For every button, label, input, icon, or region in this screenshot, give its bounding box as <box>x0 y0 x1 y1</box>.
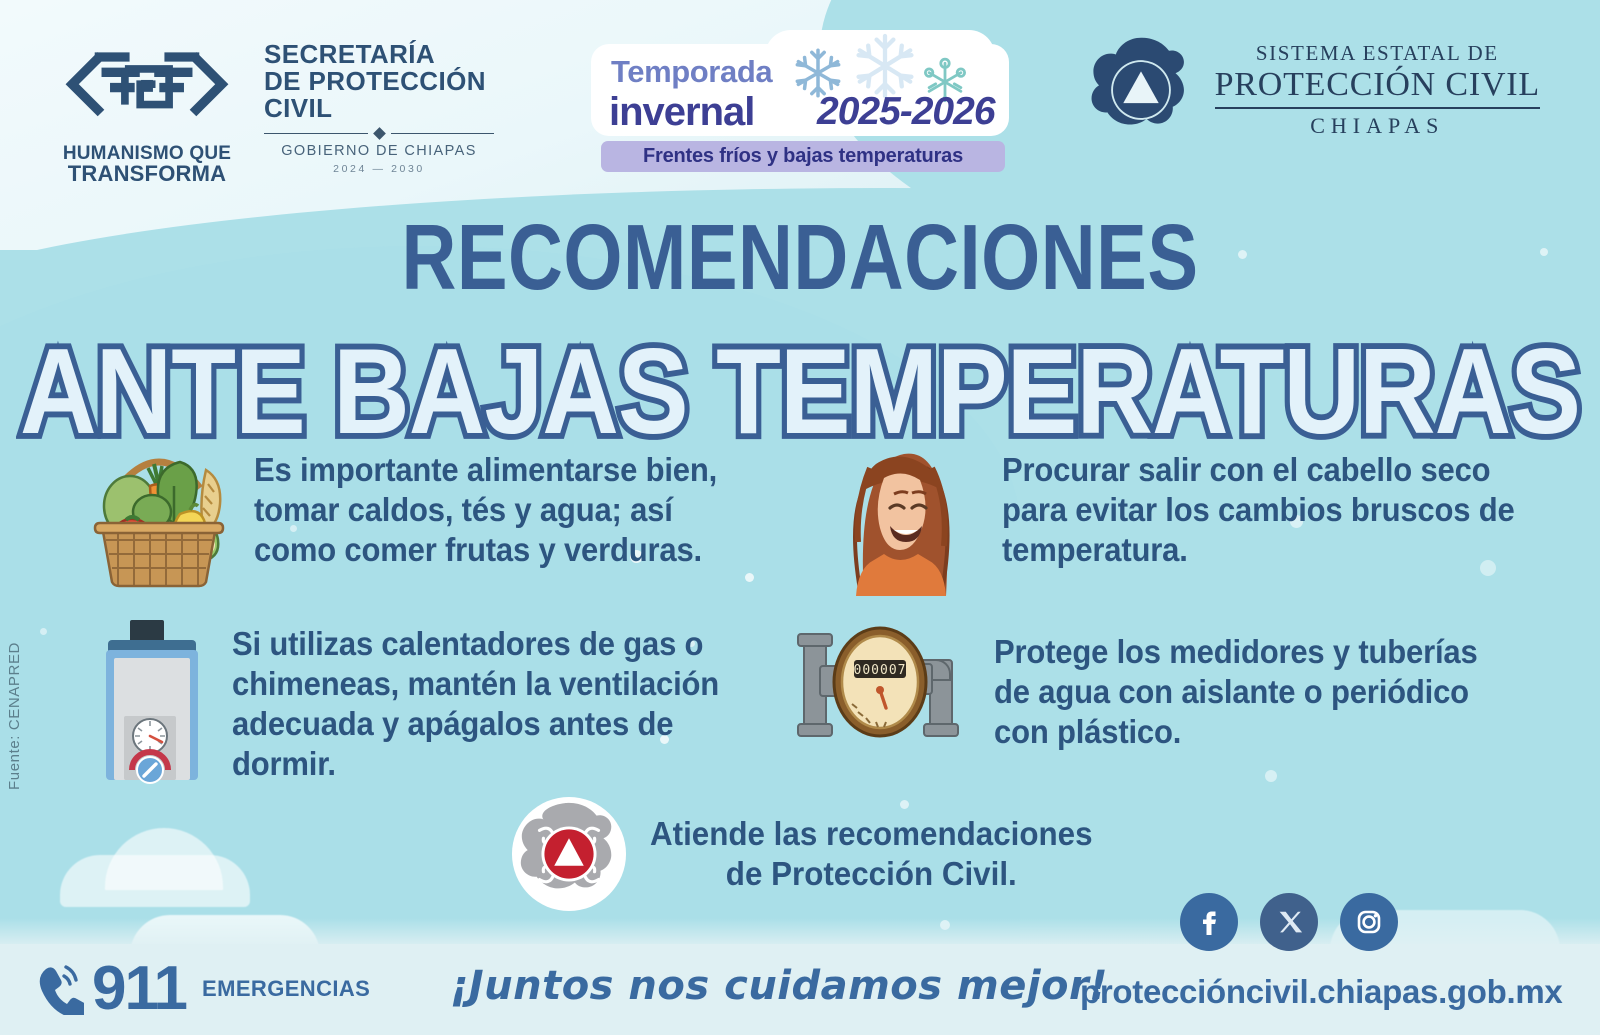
cta-text: Atiende las recomendaciones de Protecció… <box>650 814 1093 894</box>
emergency-block[interactable]: 911 EMERGENCIAS <box>34 961 370 1017</box>
food-basket-icon <box>88 428 230 593</box>
snow-dot <box>1265 770 1277 782</box>
proteccion-civil-seal-icon <box>1085 34 1197 146</box>
cta-block: Atiende las recomendaciones de Protecció… <box>510 795 1116 913</box>
logo-sistema-estatal-proteccion-civil: SISTEMA ESTATAL DE PROTECCIÓN CIVIL CHIA… <box>1085 34 1540 146</box>
header: HUMANISMO QUE TRANSFORMA SECRETARÍA DE P… <box>0 0 1600 190</box>
tip-text-hair: Procurar salir con el cabello seco para … <box>1002 450 1527 570</box>
tip-card-meter: 000007 Protege los medidores y tuberías … <box>790 620 1550 755</box>
title-line-1: RECOMENDACIONES <box>0 205 1600 311</box>
emergency-label: EMERGENCIAS <box>202 976 370 1002</box>
woman-wet-hair-icon <box>820 420 980 605</box>
logo-humanismo-que-transforma: HUMANISMO QUE TRANSFORMA SECRETARÍA DE P… <box>62 30 494 186</box>
svg-text:000007: 000007 <box>854 663 907 678</box>
phone-call-icon <box>34 963 84 1015</box>
facebook-icon[interactable] <box>1180 893 1238 951</box>
seal-line2: PROTECCIÓN CIVIL <box>1215 66 1540 104</box>
website-url[interactable]: proteccióncivil.chiapas.gob.mx <box>1080 973 1562 1011</box>
diamond-icon <box>373 127 386 140</box>
chiapas-glyph-icon <box>62 30 232 135</box>
badge-subtitle: Frentes fríos y bajas temperaturas <box>601 141 1005 172</box>
seal-line1: SISTEMA ESTATAL DE <box>1215 41 1540 66</box>
seal-text-block: SISTEMA ESTATAL DE PROTECCIÓN CIVIL CHIA… <box>1215 41 1540 139</box>
footer-slogan: ¡Juntos nos cuidamos mejor! <box>450 963 1108 1009</box>
secretaria-line3: CIVIL <box>264 95 494 122</box>
logo-slogan-line2: TRANSFORMA <box>68 161 226 186</box>
x-twitter-icon[interactable] <box>1260 893 1318 951</box>
instagram-icon[interactable] <box>1340 893 1398 951</box>
page-title: RECOMENDACIONES ANTE BAJAS TEMPERATURAS <box>0 205 1600 440</box>
administration-years: 2024 — 2030 <box>264 163 494 175</box>
winter-season-badge: Temporada invernal 2025-2026 Frentes frí… <box>585 28 1015 168</box>
tip-text-food: Es importante alimentarse bien, tomar ca… <box>254 450 756 570</box>
secretaria-line1: SECRETARÍA <box>264 41 494 68</box>
tip-text-heater: Si utilizas calentadores de gas o chimen… <box>232 624 766 784</box>
water-meter-icon: 000007 <box>790 620 970 755</box>
snow-dot <box>40 628 47 635</box>
logo-slogan: HUMANISMO QUE TRANSFORMA <box>62 144 232 186</box>
tip-text-meter: Protege los medidores y tuberías de agua… <box>994 632 1517 752</box>
badge-temporada-text: Temporada <box>611 54 772 90</box>
gas-water-heater-icon <box>100 618 204 793</box>
divider-with-diamond <box>264 129 494 138</box>
seal-divider <box>1215 107 1540 109</box>
cta-line2: de Protección Civil. <box>650 854 1093 894</box>
proteccion-civil-grey-seal-icon <box>510 795 628 913</box>
secretaria-block: SECRETARÍA DE PROTECCIÓN CIVIL GOBIERNO … <box>264 41 494 175</box>
tip-card-heater: Si utilizas calentadores de gas o chimen… <box>100 618 800 793</box>
social-links[interactable] <box>1180 893 1398 951</box>
secretaria-line2: DE PROTECCIÓN <box>264 68 494 95</box>
badge-years-text: 2025-2026 <box>817 90 995 134</box>
secretaria-title: SECRETARÍA DE PROTECCIÓN CIVIL <box>264 41 494 122</box>
emergency-number: 911 <box>92 961 186 1017</box>
seal-line3: CHIAPAS <box>1215 113 1540 139</box>
gobierno-label: GOBIERNO DE CHIAPAS <box>264 143 494 159</box>
badge-invernal-text: invernal <box>609 90 754 135</box>
cta-line1: Atiende las recomendaciones <box>650 814 1093 854</box>
tip-card-food: Es importante alimentarse bien, tomar ca… <box>88 428 788 593</box>
tip-card-hair: Procurar salir con el cabello seco para … <box>820 420 1560 605</box>
source-note: Fuente: CENAPRED <box>6 642 23 790</box>
poster-root: HUMANISMO QUE TRANSFORMA SECRETARÍA DE P… <box>0 0 1600 1035</box>
